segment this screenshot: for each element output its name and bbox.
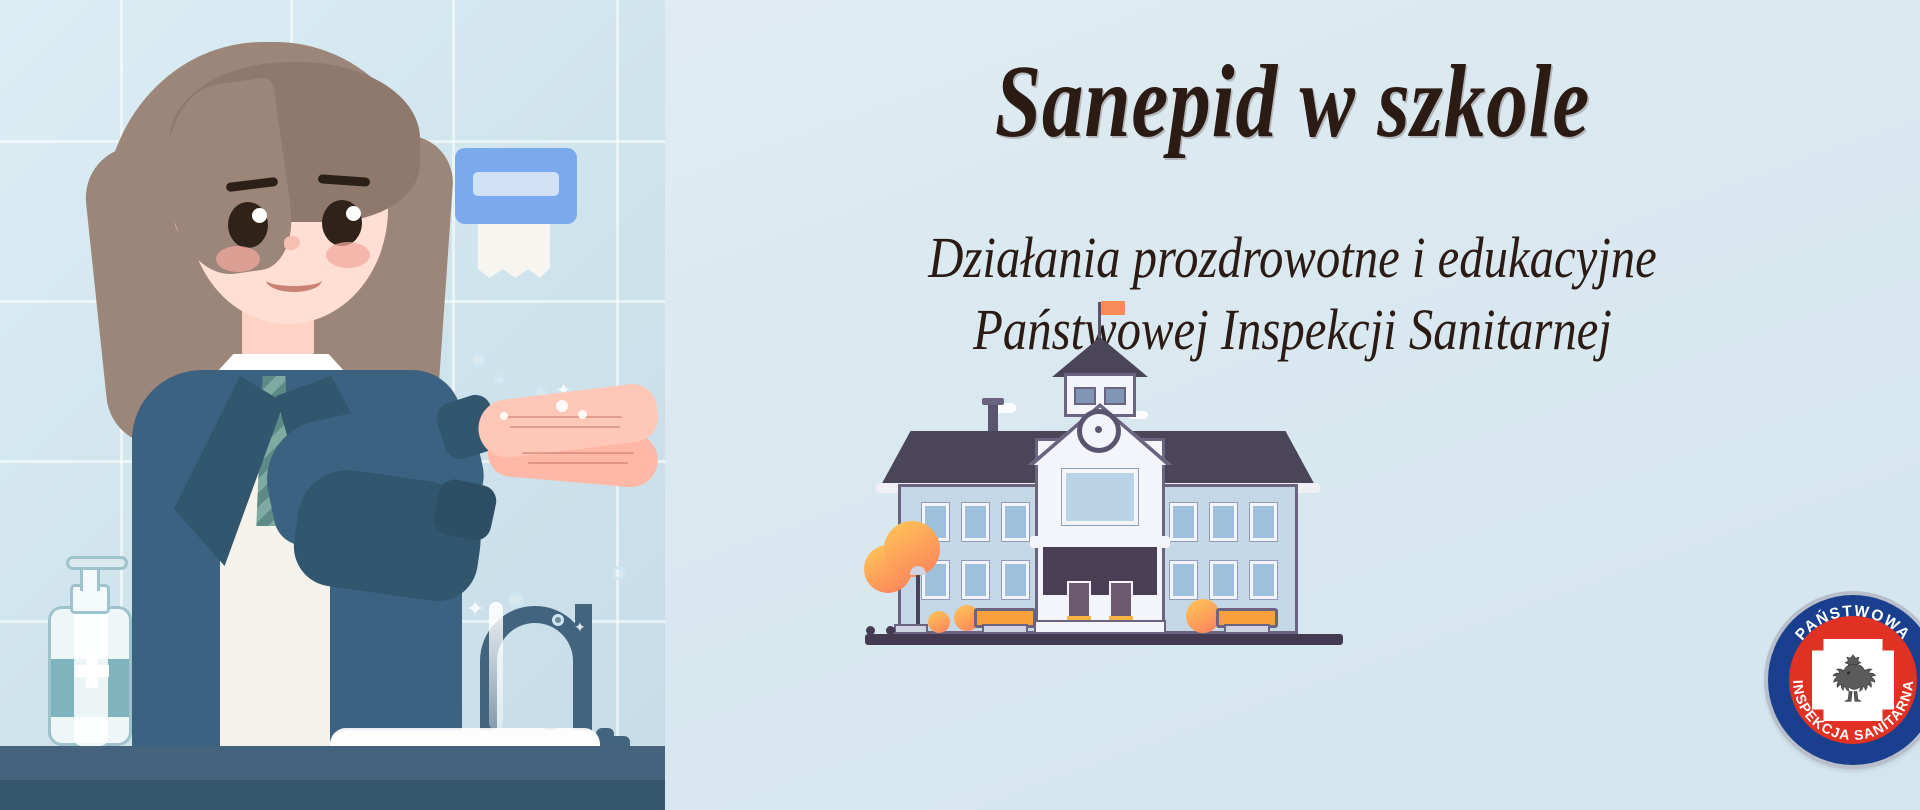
soap-foam <box>556 400 568 412</box>
window <box>1210 503 1237 541</box>
chimney-cap <box>982 398 1004 405</box>
window <box>1250 503 1277 541</box>
soap-bubble <box>612 566 626 580</box>
banner-subtitle: Działania prozdrowotne i edukacyjne Pańs… <box>665 222 1920 366</box>
sanepid-logo: PAŃSTWOWA INSPEKCJA SANITARNA <box>1768 595 1920 765</box>
eye-highlight <box>252 208 267 223</box>
window <box>1002 561 1029 599</box>
logo-top-text: PAŃSTWOWA <box>1792 603 1913 644</box>
autumn-shrub <box>928 611 950 633</box>
entrance-porch <box>1043 547 1157 595</box>
main-window <box>1062 469 1138 525</box>
window <box>962 503 989 541</box>
clock-center <box>1095 426 1102 433</box>
tower-window <box>1104 387 1126 405</box>
soap-foam <box>578 410 587 419</box>
soap-dispenser <box>48 566 132 746</box>
counter-front <box>0 780 665 810</box>
text-and-graphics-panel: Sanepid w szkole Działania prozdrowotne … <box>665 0 1920 810</box>
svg-text:INSPEKCJA SANITARNA: INSPEKCJA SANITARNA <box>1790 679 1916 743</box>
blush-left <box>216 246 260 272</box>
svg-text:PAŃSTWOWA: PAŃSTWOWA <box>1792 603 1913 644</box>
flag-icon <box>1101 301 1125 315</box>
tower-window <box>1074 387 1096 405</box>
pump-head <box>66 556 128 570</box>
soap-bubble <box>552 614 564 626</box>
mouth <box>266 268 322 292</box>
ground-line <box>865 634 1343 645</box>
handwashing-illustration: ✦ ✦ ✦ <box>0 0 665 810</box>
blush-right <box>326 242 370 268</box>
bench-base <box>982 624 1028 634</box>
eye-highlight <box>346 206 361 221</box>
subtitle-line-2: Państwowej Inspekcji Sanitarnej <box>765 294 1819 366</box>
subtitle-line-1: Działania prozdrowotne i edukacyjne <box>765 222 1819 294</box>
planter <box>894 624 928 634</box>
window <box>1170 503 1197 541</box>
sparkle-icon: ✦ <box>574 620 586 637</box>
banner-title: Sanepid w szkole <box>791 42 1795 161</box>
window <box>1210 561 1237 599</box>
schoolgirl-character <box>70 24 540 810</box>
lamp-head <box>910 566 926 575</box>
logo-bottom-text: INSPEKCJA SANITARNA <box>1790 679 1916 743</box>
autumn-tree <box>1186 599 1220 633</box>
counter-top <box>0 746 665 780</box>
entrance-steps <box>1034 620 1166 634</box>
soap-foam <box>500 412 508 420</box>
window <box>1170 561 1197 599</box>
medical-cross-icon <box>75 665 109 677</box>
window <box>962 561 989 599</box>
window <box>1002 503 1029 541</box>
flag-pole <box>1098 302 1101 340</box>
bench-base <box>1224 624 1270 634</box>
window <box>1250 561 1277 599</box>
school-building-illustration <box>870 385 1335 645</box>
sanepid-banner: ✦ ✦ ✦ <box>0 0 1920 810</box>
